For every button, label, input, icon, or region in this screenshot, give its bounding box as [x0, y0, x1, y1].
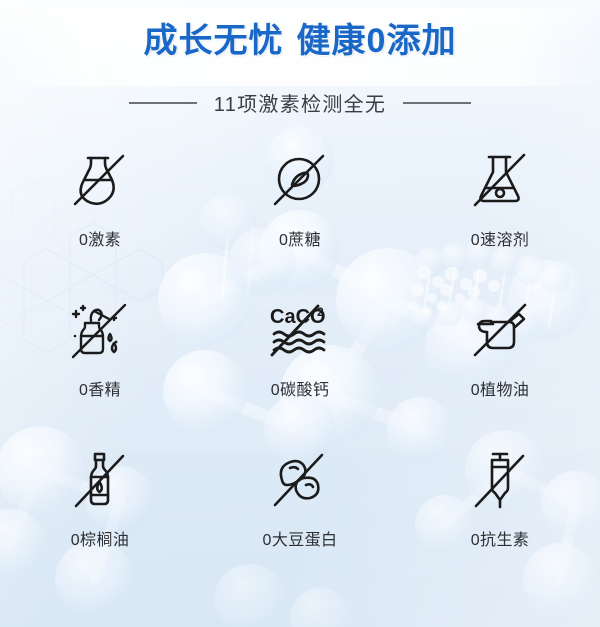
grid-item-no-antibiotics: 0抗生素	[400, 443, 600, 550]
poster-header: 成长无忧健康0添加 11项激素检测全无	[0, 0, 600, 117]
grid-item-no-palm-oil: 0棕榈油	[0, 443, 200, 550]
promo-poster: 成长无忧健康0添加 11项激素检测全无 0激素	[0, 0, 600, 627]
no-calcium-carbonate-icon: CaCO 2	[257, 293, 343, 369]
grid-item-no-vegetable-oil: 0植物油	[400, 293, 600, 400]
grid-item-no-soy-protein: 0大豆蛋白	[200, 443, 400, 550]
icon-label: 0激素	[79, 226, 121, 250]
grid-item-no-fragrance: 0香精	[0, 293, 200, 400]
icon-label: 0抗生素	[471, 526, 530, 550]
grid-item-no-sucrose: 0蔗糖	[200, 143, 400, 250]
divider-line-right	[403, 102, 471, 104]
icon-label: 0大豆蛋白	[263, 526, 338, 550]
title-part-2: 健康0添加	[297, 22, 457, 60]
title-part-1: 成长无忧	[144, 22, 284, 60]
grid-item-no-instant-solvent: 0速溶剂	[400, 143, 600, 250]
no-instant-solvent-flask-icon	[457, 143, 543, 219]
page-title: 成长无忧健康0添加	[0, 21, 600, 61]
no-vegetable-oil-icon	[457, 293, 543, 369]
grid-item-no-calcium-carbonate: CaCO 2 0碳酸钙	[200, 293, 400, 400]
icon-label: 0棕榈油	[71, 526, 130, 550]
no-antibiotics-syringe-icon	[457, 443, 543, 519]
divider-line-left	[129, 102, 197, 104]
no-sucrose-icon	[257, 143, 343, 219]
no-soy-protein-icon	[257, 443, 343, 519]
icon-label: 0植物油	[471, 376, 530, 400]
no-hormone-flask-icon	[57, 143, 143, 219]
no-fragrance-dropper-icon	[57, 293, 143, 369]
free-from-icon-grid: 0激素 0蔗糖	[0, 143, 600, 593]
subtitle: 11项激素检测全无	[214, 88, 386, 117]
no-palm-oil-bottle-icon	[57, 443, 143, 519]
icon-label: 0蔗糖	[279, 226, 321, 250]
icon-label: 0碳酸钙	[271, 376, 330, 400]
grid-item-no-hormone: 0激素	[0, 143, 200, 250]
subtitle-row: 11项激素检测全无	[0, 88, 600, 117]
icon-label: 0香精	[79, 376, 121, 400]
icon-label: 0速溶剂	[471, 226, 530, 250]
